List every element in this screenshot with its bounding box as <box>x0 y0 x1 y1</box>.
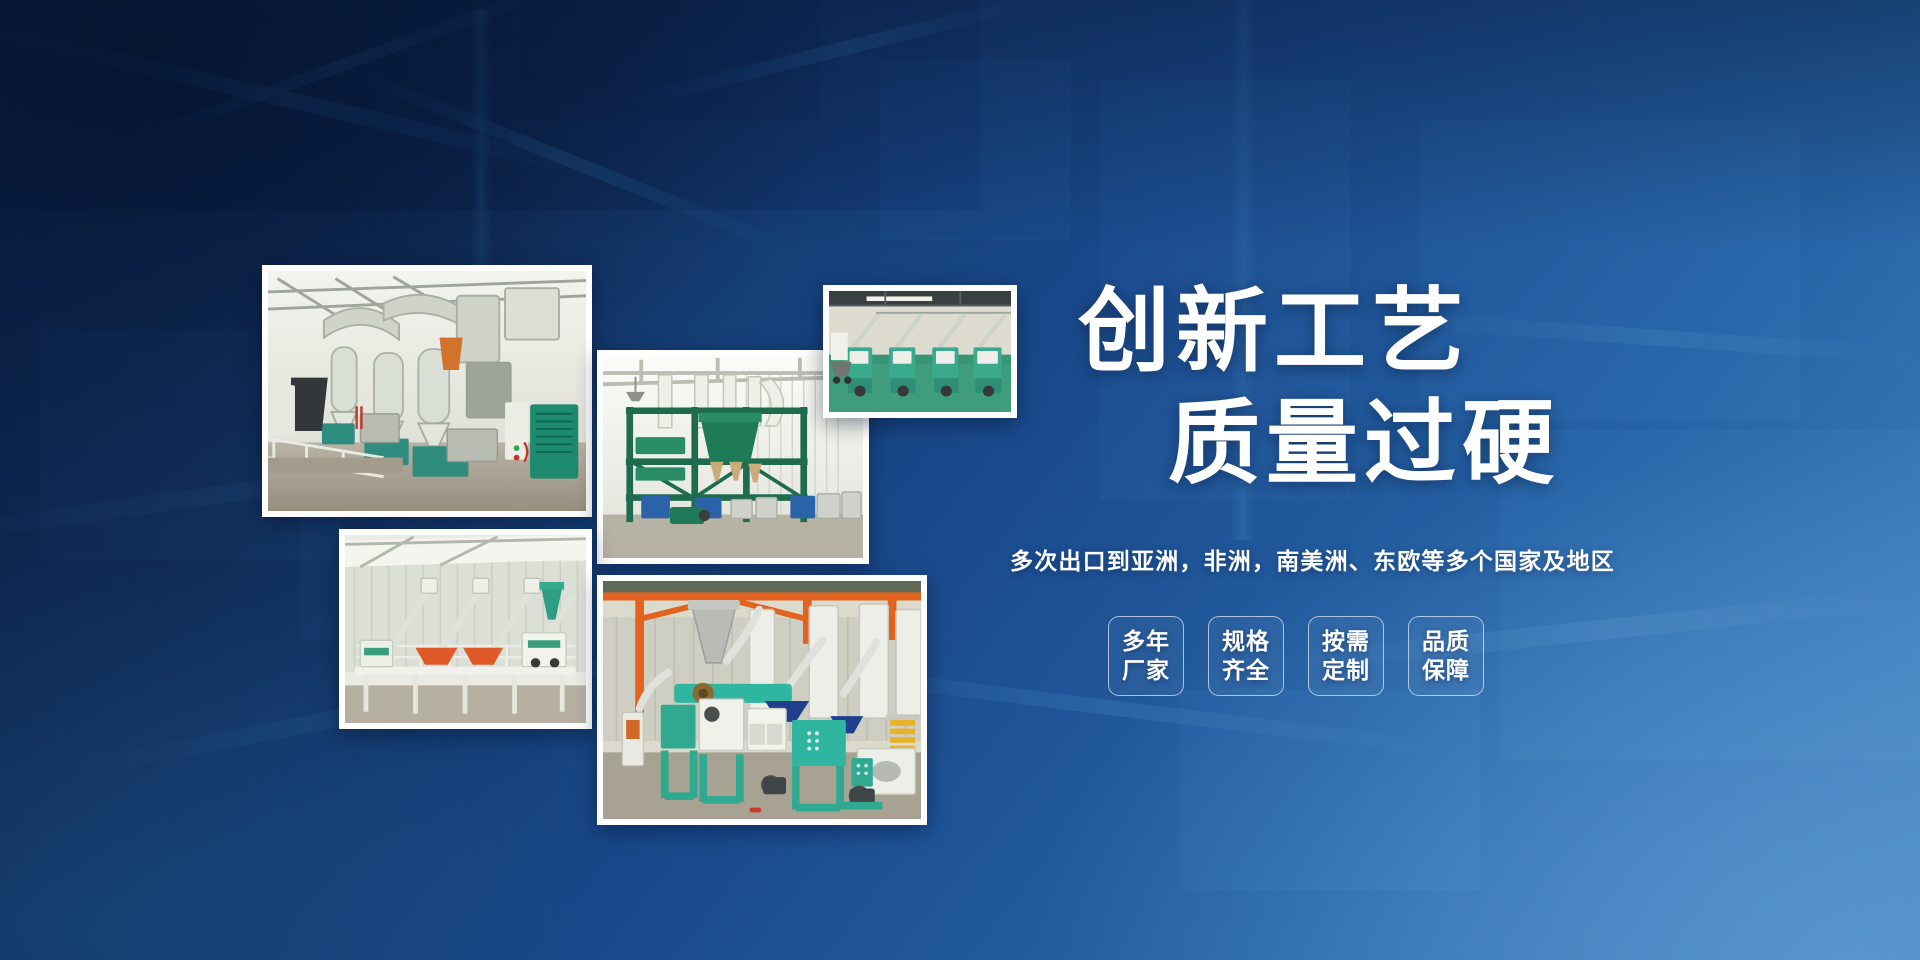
photo-image-milling-line <box>268 271 586 511</box>
photo-collage <box>0 0 1000 960</box>
promo-banner: 创新工艺 质量过硬 多次出口到亚洲，非洲，南美洲、东欧等多个国家及地区 多年 厂… <box>0 0 1920 960</box>
badge-custom-made[interactable]: 按需 定制 <box>1308 616 1384 696</box>
banner-content: 创新工艺 质量过硬 多次出口到亚洲，非洲，南美洲、东欧等多个国家及地区 多年 厂… <box>1010 280 1850 696</box>
badge-line-top: 多年 <box>1122 627 1170 656</box>
photo-image-machine-row <box>829 291 1011 412</box>
photo-image-process-line <box>345 535 586 723</box>
badge-full-specifications[interactable]: 规格 齐全 <box>1208 616 1284 696</box>
badge-quality-guarantee[interactable]: 品质 保障 <box>1408 616 1484 696</box>
badge-line-top: 品质 <box>1422 627 1470 656</box>
photo-image-teal-mill <box>603 581 921 819</box>
badge-line-top: 规格 <box>1222 627 1270 656</box>
photo-milling-machine-row <box>823 285 1017 418</box>
photo-processing-platform <box>339 529 592 729</box>
photo-grain-milling-line <box>262 265 592 517</box>
badge-line-bottom: 保障 <box>1422 656 1470 685</box>
badge-line-bottom: 厂家 <box>1122 656 1170 685</box>
badge-line-bottom: 齐全 <box>1222 656 1270 685</box>
badge-line-bottom: 定制 <box>1322 656 1370 685</box>
badge-line-top: 按需 <box>1322 627 1370 656</box>
photo-teal-combined-mill <box>597 575 927 825</box>
banner-subtitle: 多次出口到亚洲，非洲，南美洲、东欧等多个国家及地区 <box>1010 542 1850 576</box>
headline-line-2: 质量过硬 <box>1168 392 1850 498</box>
badge-years-manufacturer[interactable]: 多年 厂家 <box>1108 616 1184 696</box>
headline-line-1: 创新工艺 <box>1078 280 1850 386</box>
feature-badges: 多年 厂家 规格 齐全 按需 定制 品质 保障 <box>1108 616 1850 696</box>
